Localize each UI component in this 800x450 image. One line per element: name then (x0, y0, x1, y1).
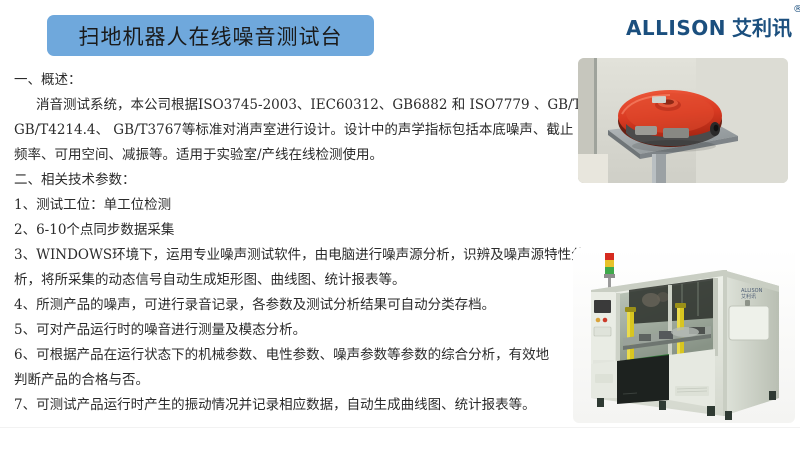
photo-noise-test-cabinet: ALLISON 艾利讯 (573, 248, 795, 423)
content-line: 析，将所采集的动态信号自动生成矩形图、曲线图、统计报表等。 (14, 268, 570, 293)
slide-root: 扫地机器人在线噪音测试台 ALLISON 艾利讯 ® 一、概述： 消音测试系统，… (0, 0, 800, 450)
content-line: 2、6-10个点同步数据采集 (14, 218, 570, 243)
robot-vacuum-illustration (578, 58, 788, 183)
page-title: 扫地机器人在线噪音测试台 (79, 21, 343, 51)
test-cabinet-illustration: ALLISON 艾利讯 (573, 248, 795, 423)
logo-english-text: ALLISON (626, 18, 726, 38)
content-line: 二、相关技术参数： (14, 168, 570, 193)
content-line: 4、所测产品的噪声，可进行录音记录，各参数及测试分析结果可自动分类存档。 (14, 293, 570, 318)
content-line: 消音测试系统，本公司根据ISO3745-2003、IEC60312、GB6882… (14, 93, 570, 118)
content-body: 一、概述： 消音测试系统，本公司根据ISO3745-2003、IEC60312、… (14, 68, 570, 418)
content-line: 3、WINDOWS环境下，运用专业噪声测试软件，由电脑进行噪声源分析，识辨及噪声… (14, 243, 570, 268)
content-line: 5、可对产品运行时的噪音进行测量及模态分析。 (14, 318, 570, 343)
content-line: 7、可测试产品运行时产生的振动情况并记录相应数据，自动生成曲线图、统计报表等。 (14, 393, 570, 418)
content-line: GB/T4214.4、 GB/T3767等标准对消声室进行设计。设计中的声学指标… (14, 118, 570, 143)
svg-text:艾利讯: 艾利讯 (741, 293, 756, 300)
content-line: 频率、可用空间、减振等。适用于实验室/产线在线检测使用。 (14, 143, 570, 168)
content-line: 一、概述： (14, 68, 570, 93)
content-line: 判断产品的合格与否。 (14, 368, 570, 393)
footer-divider (0, 427, 800, 428)
slide-title-box: 扫地机器人在线噪音测试台 (47, 15, 374, 56)
brand-logo: ALLISON 艾利讯 ® (626, 18, 792, 38)
photo-robot-vacuum (578, 58, 788, 183)
logo-chinese-label: 艾利讯 (732, 16, 792, 40)
logo-chinese-text: 艾利讯 ® (732, 18, 792, 38)
content-line: 6、可根据产品在运行状态下的机械参数、电性参数、噪声参数等参数的综合分析，有效地 (14, 343, 570, 368)
registered-trademark-icon: ® (793, 5, 800, 15)
content-line: 1、测试工位：单工位检测 (14, 193, 570, 218)
